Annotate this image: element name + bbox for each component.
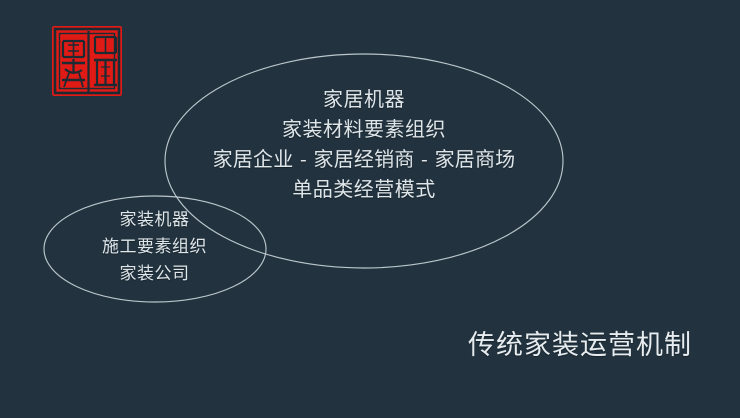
small-ellipse-text-group: 家装机器 施工要素组织 家装公司 (52, 207, 257, 288)
big-ellipse-line-2: 家装材料要素组织 (170, 114, 558, 144)
small-ellipse-line-2: 施工要素组织 (52, 234, 257, 261)
seal-icon (52, 26, 122, 96)
small-ellipse-line-3: 家装公司 (52, 261, 257, 288)
big-ellipse-line-1: 家居机器 (170, 84, 558, 114)
small-ellipse-line-1: 家装机器 (52, 207, 257, 234)
big-ellipse-text-group: 家居机器 家装材料要素组织 家居企业 - 家居经销商 - 家居商场 单品类经营模… (170, 84, 558, 204)
big-ellipse-line-4: 单品类经营模式 (170, 174, 558, 204)
seal-stamp-logo (49, 23, 125, 99)
big-ellipse-line-3: 家居企业 - 家居经销商 - 家居商场 (170, 144, 558, 174)
slide-canvas: 家居机器 家装材料要素组织 家居企业 - 家居经销商 - 家居商场 单品类经营模… (0, 0, 740, 418)
slide-caption: 传统家装运营机制 (468, 329, 698, 363)
